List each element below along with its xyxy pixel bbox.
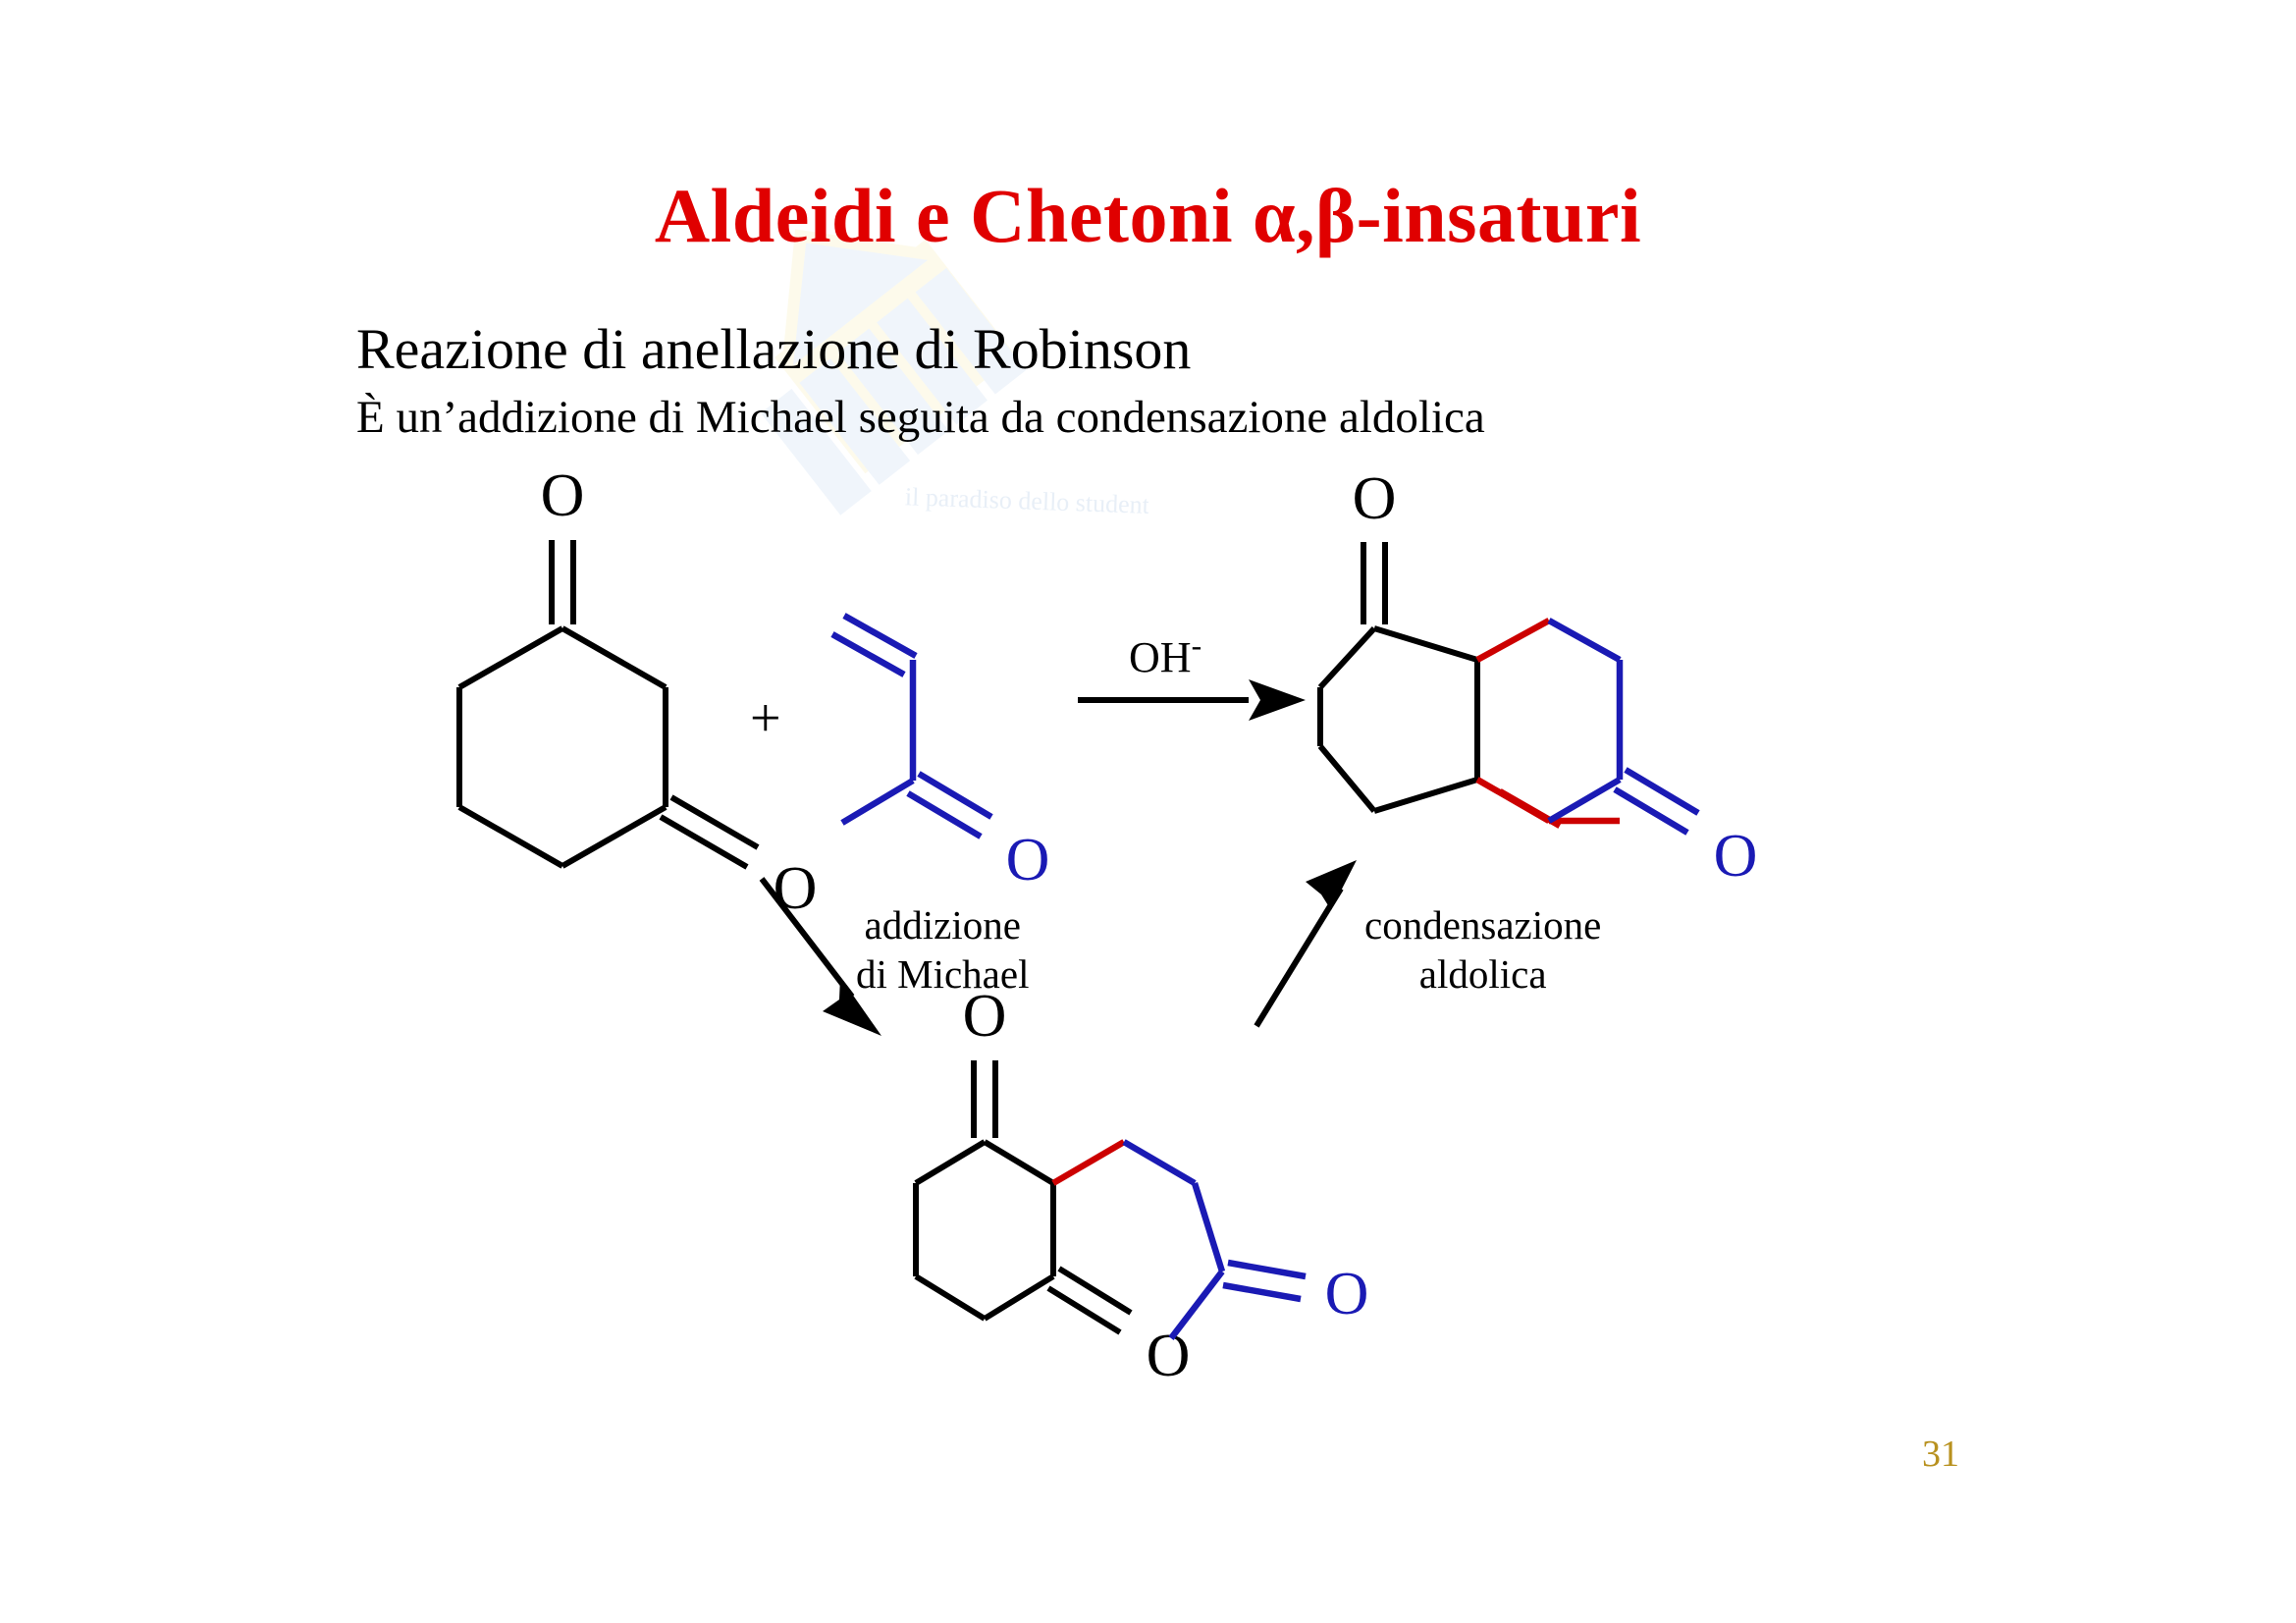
- step-label-aldol: condensazione aldolica: [1364, 900, 1601, 999]
- step-label-michael: addizione di Michael: [856, 900, 1029, 999]
- plus-sign: +: [750, 691, 781, 746]
- slide-canvas: il paradiso dello studente Aldeidi e Che…: [0, 0, 2296, 1623]
- arrow-aldol: [1256, 860, 1357, 1026]
- page-number: 31: [1922, 1433, 1959, 1476]
- atom-label-O: O: [541, 462, 585, 529]
- step-label-michael-line1: addizione: [856, 900, 1029, 949]
- reaction-scheme: O O O: [0, 0, 2296, 1623]
- step-label-michael-line2: di Michael: [856, 949, 1029, 999]
- molecule-methyl-vinyl-ketone: O: [832, 616, 1049, 893]
- atom-label-O: O: [1714, 823, 1758, 890]
- step-label-aldol-line1: condensazione: [1364, 900, 1601, 949]
- atom-label-O: O: [1006, 827, 1050, 893]
- atom-label-O: O: [1325, 1261, 1369, 1327]
- reagent-label-text: OH: [1129, 633, 1192, 681]
- reagent-label-hydroxide: OH-: [1129, 628, 1201, 682]
- molecule-robinson-product: O O: [1320, 465, 1757, 890]
- atom-label-O: O: [1147, 1323, 1191, 1389]
- atom-label-O: O: [774, 855, 818, 922]
- molecule-michael-adduct: O O O: [916, 983, 1368, 1389]
- reagent-label-charge: -: [1192, 628, 1202, 663]
- atom-label-O: O: [1353, 465, 1397, 532]
- step-label-aldol-line2: aldolica: [1364, 949, 1601, 999]
- reaction-arrow-main: [1078, 679, 1306, 721]
